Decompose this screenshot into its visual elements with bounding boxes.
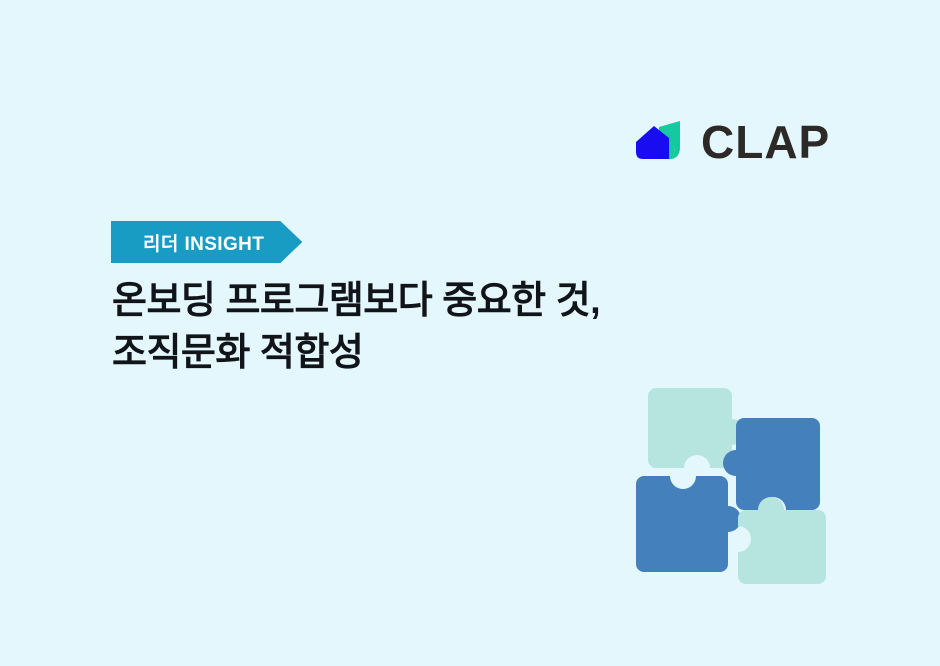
eyebrow-badge: 리더 INSIGHT bbox=[111, 221, 302, 263]
puzzle-piece-bottom-left bbox=[636, 476, 741, 572]
page-title: 온보딩 프로그램보다 중요한 것, 조직문화 적합성 bbox=[112, 276, 752, 379]
brand-logo: CLAP bbox=[633, 118, 830, 166]
clap-logo-mark-icon bbox=[633, 118, 687, 166]
puzzle-piece-bottom-right bbox=[738, 497, 826, 584]
slide-canvas: CLAP 리더 INSIGHT 온보딩 프로그램보다 중요한 것, 조직문화 적… bbox=[0, 0, 940, 666]
page-title-line-2: 조직문화 적합성 bbox=[112, 328, 752, 380]
jigsaw-puzzle-illustration bbox=[632, 380, 832, 592]
puzzle-piece-top-right bbox=[723, 418, 820, 510]
page-title-line-1: 온보딩 프로그램보다 중요한 것, bbox=[112, 276, 752, 328]
brand-wordmark: CLAP bbox=[701, 119, 830, 165]
badge-label: 리더 INSIGHT bbox=[111, 221, 302, 263]
